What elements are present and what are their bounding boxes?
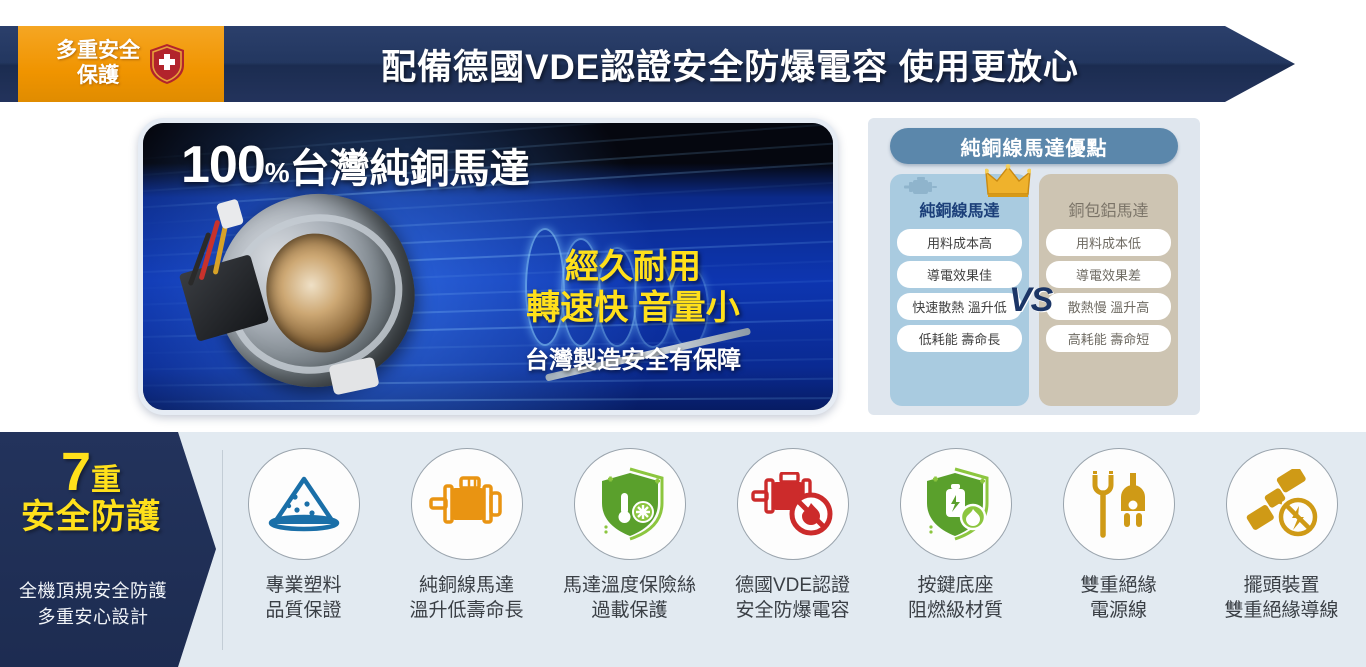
feature-label-line-1: 專業塑料	[265, 574, 341, 599]
feature-label-line-2: 安全防爆電容	[735, 599, 850, 624]
feature-label: 純銅線馬達 溫升低壽命長	[409, 574, 523, 623]
feature-item[interactable]: 德國VDE認證 安全防爆電容	[711, 442, 874, 662]
feature-icon-circle	[900, 448, 1012, 560]
shield-check-icon	[148, 43, 186, 85]
comparison-item: 用料成本低	[1046, 229, 1171, 256]
seven-description: 全機頂規安全防護 多重安心設計	[0, 578, 186, 630]
badge-line-1: 多重安全	[56, 39, 140, 64]
vs-label: VS	[1009, 281, 1052, 320]
feature-list: 專業塑料 品質保證 純銅線馬達 溫升低壽命長	[222, 442, 1366, 662]
feature-label-line-1: 馬達溫度保險絲	[563, 574, 696, 599]
multi-safety-badge: 多重安全 保護	[18, 26, 224, 102]
comparison-item: 高耗能 壽命短	[1046, 325, 1171, 352]
seven-heading: 7重 安全防護	[0, 446, 182, 536]
comparison-item: 導電效果差	[1046, 261, 1171, 288]
comparison-item: 用料成本高	[897, 229, 1022, 256]
feature-label-line-1: 純銅線馬達	[409, 574, 523, 599]
comparison-item: 導電效果佳	[897, 261, 1022, 288]
plug-cord-icon	[1083, 469, 1155, 539]
feature-label-line-2: 雙重絕緣導線	[1224, 599, 1338, 624]
feature-label: 專業塑料 品質保證	[265, 574, 341, 623]
comparison-item: 低耗能 壽命長	[897, 325, 1022, 352]
headline-rest: 台灣純銅馬達	[290, 147, 530, 191]
motor-headline: 100%台灣純銅馬達	[181, 135, 530, 195]
motor-claim-3: 台灣製造安全有保障	[443, 340, 823, 375]
feature-label-line-2: 過載保護	[563, 599, 696, 624]
feature-label: 按鍵底座 阻燃級材質	[908, 574, 1003, 623]
badge-line-2: 保護	[56, 64, 140, 89]
feature-item[interactable]: 專業塑料 品質保證	[222, 442, 385, 662]
header-title: 配備德國VDE認證安全防爆電容 使用更放心	[230, 26, 1230, 102]
comparison-item: 快速散熱 溫升低	[897, 293, 1022, 320]
seven-subheading: 安全防護	[0, 499, 182, 536]
motor-showcase-card: 100%台灣純銅馬達 經久耐用 轉速快 音量小 台灣製造安全有保障	[138, 118, 838, 415]
motor-claim-2: 轉速快 音量小	[443, 288, 823, 329]
feature-icon-circle	[248, 448, 360, 560]
motor-claims: 經久耐用 轉速快 音量小 台灣製造安全有保障	[443, 247, 823, 375]
shield-capacitor-flame-icon	[917, 467, 995, 541]
feature-label-line-1: 德國VDE認證	[735, 574, 850, 599]
feature-label: 德國VDE認證 安全防爆電容	[735, 574, 850, 623]
motor-icon	[428, 475, 506, 533]
feature-icon-circle	[1226, 448, 1338, 560]
feature-item[interactable]: 雙重絕緣 電源線	[1037, 442, 1200, 662]
headline-number: 100	[181, 136, 265, 194]
plastic-pellets-icon	[267, 472, 341, 536]
seven-desc-line-1: 全機頂規安全防護	[0, 578, 186, 604]
shield-thermometer-icon	[592, 467, 668, 541]
comparison-panel: 純銅線馬達優點 純銅線馬達 用料成本高 導電效果佳 快速散熱 溫升低	[868, 118, 1200, 415]
feature-icon-circle	[411, 448, 523, 560]
feature-label-line-2: 品質保證	[265, 599, 341, 624]
feature-label-line-2: 溫升低壽命長	[409, 599, 523, 624]
swivel-wire-no-spark-icon	[1244, 469, 1320, 539]
seven-count: 7	[61, 442, 91, 502]
feature-label-line-2: 電源線	[1080, 599, 1156, 624]
feature-icon-circle	[574, 448, 686, 560]
comparison-column-cca-title: 銅包鋁馬達	[1039, 182, 1178, 224]
feature-icon-circle	[737, 448, 849, 560]
comparison-item: 散熱慢 溫升高	[1046, 293, 1171, 320]
feature-item[interactable]: 擺頭裝置 雙重絕緣導線	[1200, 442, 1363, 662]
motor-icon	[904, 176, 938, 198]
safety-features-section: 7重 安全防護 全機頂規安全防護 多重安心設計 專業塑料	[0, 432, 1366, 667]
motor-claim-1: 經久耐用	[443, 247, 823, 288]
headline-percent: %	[265, 157, 290, 188]
feature-label-line-2: 阻燃級材質	[908, 599, 1003, 624]
feature-icon-circle	[1063, 448, 1175, 560]
feature-label-line-1: 雙重絕緣	[1080, 574, 1156, 599]
feature-label-line-1: 按鍵底座	[908, 574, 1003, 599]
seven-desc-line-2: 多重安心設計	[0, 604, 186, 630]
motor-wire-connector	[216, 198, 244, 229]
feature-item[interactable]: 純銅線馬達 溫升低壽命長	[385, 442, 548, 662]
feature-label-line-1: 擺頭裝置	[1224, 574, 1338, 599]
motor-no-fire-icon	[751, 472, 835, 536]
feature-label: 馬達溫度保險絲 過載保護	[563, 574, 696, 623]
feature-label: 雙重絕緣 電源線	[1080, 574, 1156, 623]
feature-item[interactable]: 按鍵底座 阻燃級材質	[874, 442, 1037, 662]
comparison-column-cca: 銅包鋁馬達 用料成本低 導電效果差 散熱慢 溫升高 高耗能 壽命短	[1039, 174, 1178, 406]
comparison-title: 純銅線馬達優點	[890, 128, 1178, 164]
crown-icon	[985, 164, 1031, 198]
seven-count-row: 7重	[0, 446, 182, 499]
feature-item[interactable]: 馬達溫度保險絲 過載保護	[548, 442, 711, 662]
header-banner: 配備德國VDE認證安全防爆電容 使用更放心 多重安全 保護	[0, 26, 1366, 102]
seven-unit: 重	[91, 464, 121, 497]
motor-photo	[181, 185, 451, 400]
badge-text: 多重安全 保護	[56, 39, 140, 89]
feature-label: 擺頭裝置 雙重絕緣導線	[1224, 574, 1338, 623]
